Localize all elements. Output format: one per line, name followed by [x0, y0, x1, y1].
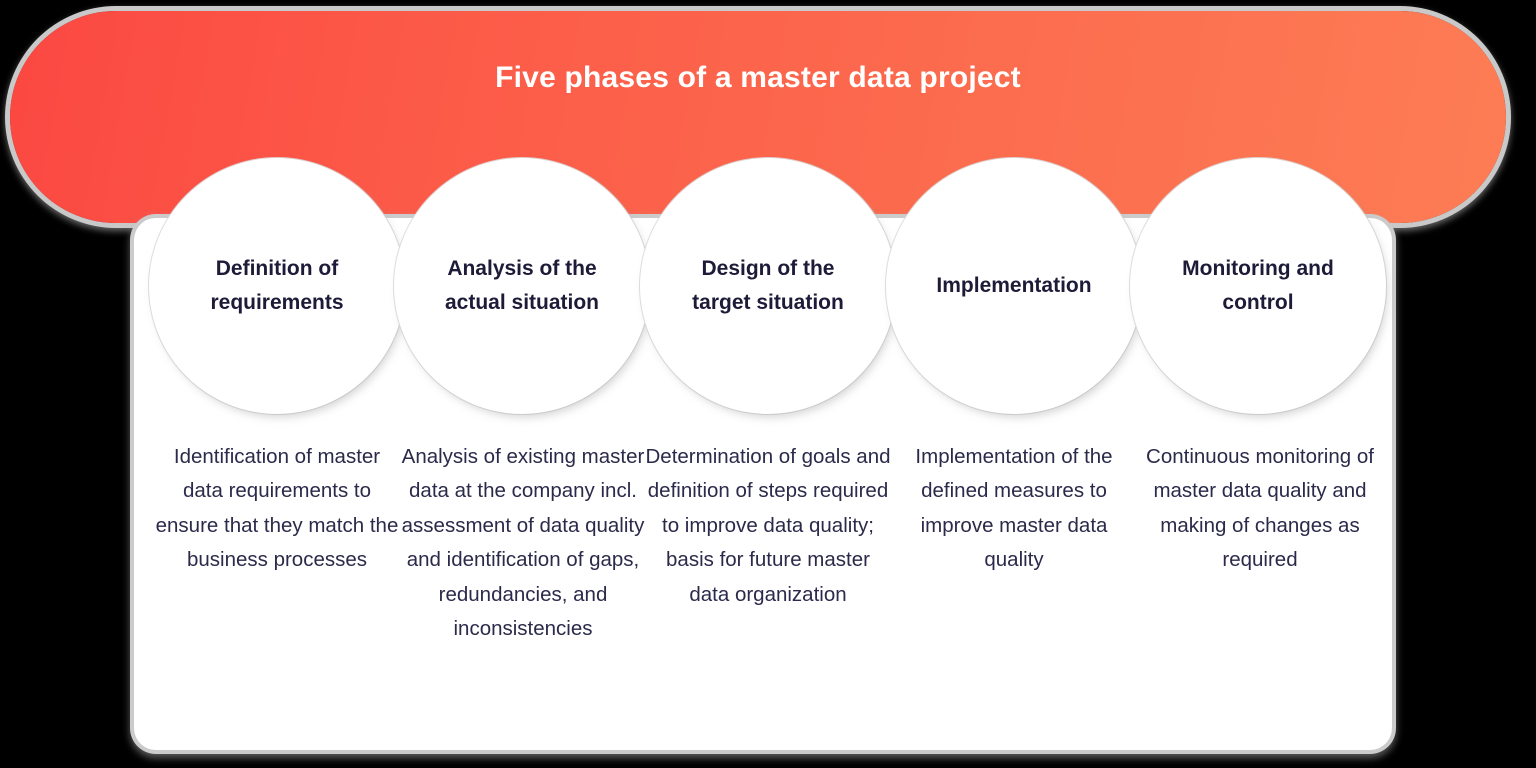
- phase-description-4: Implementation of the defined measures t…: [891, 440, 1137, 578]
- phase-circle-label: Monitoring and control: [1158, 252, 1358, 320]
- phase-circle-5[interactable]: Monitoring and control: [1130, 158, 1386, 414]
- phase-circle-2[interactable]: Analysis of the actual situation: [394, 158, 650, 414]
- page-title: Five phases of a master data project: [10, 11, 1506, 95]
- phase-description-2: Analysis of existing master data at the …: [400, 440, 646, 647]
- phase-descriptions-row: Identification of master data requiremen…: [0, 440, 1536, 740]
- phase-description-1: Identification of master data requiremen…: [154, 440, 400, 578]
- phase-circle-4[interactable]: Implementation: [886, 158, 1142, 414]
- phase-circle-label: Design of the target situation: [668, 252, 868, 320]
- phase-circles-row: Definition of requirements Analysis of t…: [0, 158, 1536, 418]
- phase-circle-label: Implementation: [914, 269, 1114, 303]
- phase-circle-label: Analysis of the actual situation: [422, 252, 622, 320]
- phase-circle-3[interactable]: Design of the target situation: [640, 158, 896, 414]
- diagram-canvas: Five phases of a master data project Def…: [0, 0, 1536, 768]
- phase-circle-label: Definition of requirements: [177, 252, 377, 320]
- phase-description-3: Determination of goals and definition of…: [645, 440, 891, 612]
- phase-description-5: Continuous monitoring of master data qua…: [1137, 440, 1383, 578]
- phase-circle-1[interactable]: Definition of requirements: [149, 158, 405, 414]
